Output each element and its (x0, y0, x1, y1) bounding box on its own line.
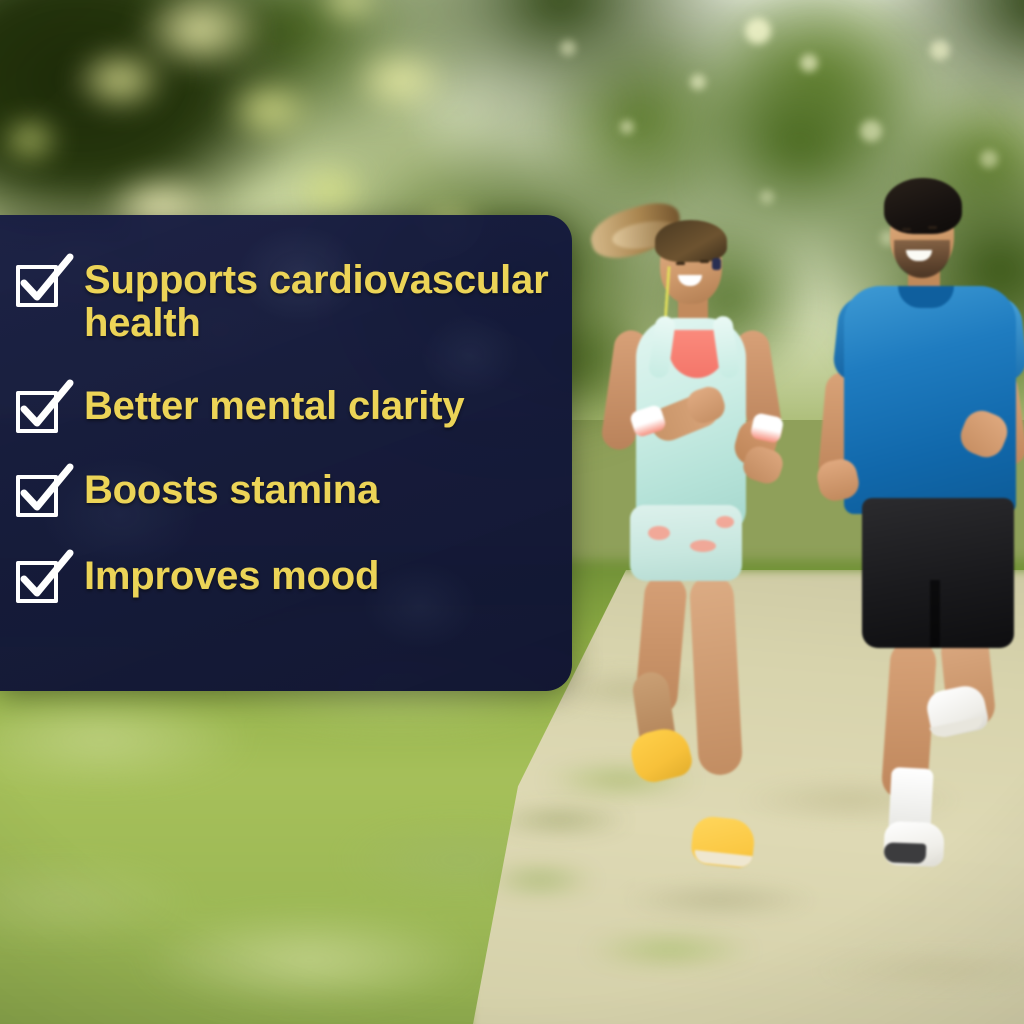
list-item-label: Better mental clarity (84, 385, 464, 428)
shorts-pattern (716, 516, 734, 528)
checkbox-checked-icon[interactable] (16, 391, 58, 433)
list-item[interactable]: Improves mood (0, 555, 572, 603)
hair (655, 220, 727, 262)
shoe-left-toe (884, 842, 927, 863)
shorts-pattern (690, 540, 716, 552)
promo-image: Supports cardiovascular health Better me… (0, 0, 1024, 1024)
eye-left (902, 228, 911, 231)
list-item[interactable]: Supports cardiovascular health (0, 259, 572, 345)
checkbox-checked-icon[interactable] (16, 265, 58, 307)
earbud (712, 258, 721, 270)
checkbox-checked-icon[interactable] (16, 475, 58, 517)
shorts-split (930, 580, 940, 648)
list-item[interactable]: Better mental clarity (0, 385, 572, 433)
list-item-label: Supports cardiovascular health (84, 259, 554, 345)
list-item-label: Boosts stamina (84, 469, 379, 512)
shorts-pattern (648, 526, 670, 540)
blue-tshirt (844, 286, 1016, 514)
list-item-label: Improves mood (84, 555, 379, 598)
benefits-panel: Supports cardiovascular health Better me… (0, 215, 572, 691)
checkbox-checked-icon[interactable] (16, 561, 58, 603)
benefits-list: Supports cardiovascular health Better me… (0, 215, 572, 603)
eye-right (928, 226, 937, 229)
eye-right (700, 260, 709, 263)
list-item[interactable]: Boosts stamina (0, 469, 572, 517)
eye-left (676, 262, 685, 265)
hair (884, 178, 962, 234)
